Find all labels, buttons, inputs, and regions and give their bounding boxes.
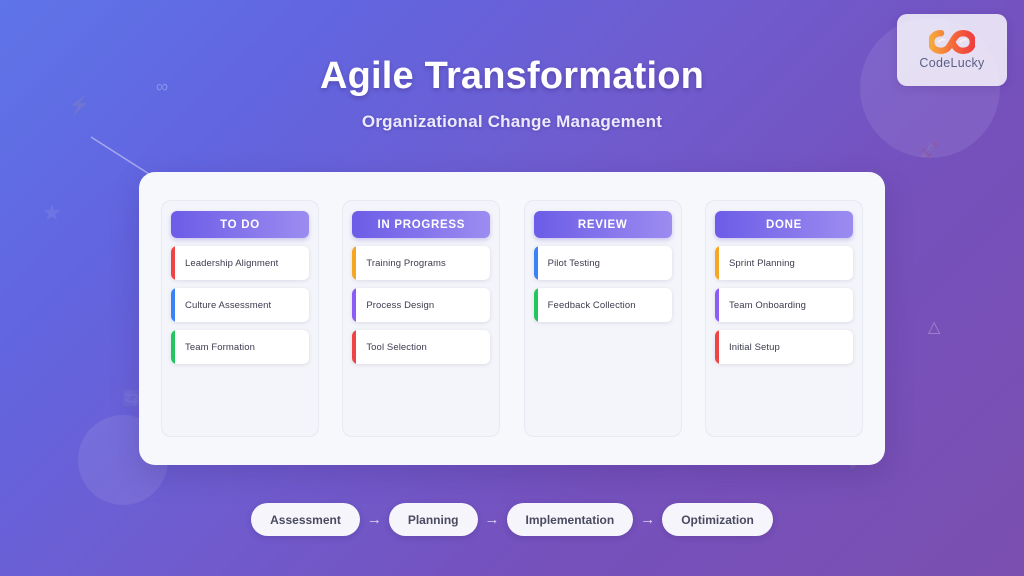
pipeline-step[interactable]: Optimization [662,503,773,536]
card-list: Training ProgramsProcess DesignTool Sele… [352,246,490,364]
column-header[interactable]: TO DO [171,211,309,238]
card-accent-bar [171,330,175,364]
card-title: Process Design [366,300,434,311]
pipeline-step[interactable]: Planning [389,503,478,536]
card-accent-bar [715,330,719,364]
card-accent-bar [715,288,719,322]
kanban-card[interactable]: Tool Selection [352,330,490,364]
kanban-card[interactable]: Culture Assessment [171,288,309,322]
card-accent-bar [171,246,175,280]
pipeline-arrow-icon: → [640,512,655,527]
kanban-board: TO DOLeadership AlignmentCulture Assessm… [139,172,885,465]
kanban-column: IN PROGRESSTraining ProgramsProcess Desi… [342,200,500,437]
card-title: Initial Setup [729,342,780,353]
card-accent-bar [352,288,356,322]
pipeline-arrow-icon: → [367,512,382,527]
kanban-column: REVIEWPilot TestingFeedback Collection [524,200,682,437]
card-accent-bar [352,246,356,280]
card-accent-bar [534,246,538,280]
kanban-card[interactable]: Pilot Testing [534,246,672,280]
pipeline-arrow-icon: → [485,512,500,527]
card-title: Culture Assessment [185,300,271,311]
kanban-card[interactable]: Sprint Planning [715,246,853,280]
card-title: Pilot Testing [548,258,600,269]
kanban-card[interactable]: Leadership Alignment [171,246,309,280]
card-title: Tool Selection [366,342,427,353]
infinity-leaf-icon [929,30,975,54]
card-title: Leadership Alignment [185,258,278,269]
triangle-icon: △ [928,320,940,336]
page-title: Agile Transformation [0,55,1024,98]
card-list: Pilot TestingFeedback Collection [534,246,672,322]
rocket-icon: 🚀 [920,143,939,158]
kanban-column: DONESprint PlanningTeam OnboardingInitia… [705,200,863,437]
card-title: Sprint Planning [729,258,795,269]
card-accent-bar [715,246,719,280]
pipeline-step[interactable]: Assessment [251,503,360,536]
kanban-card[interactable]: Training Programs [352,246,490,280]
card-list: Sprint PlanningTeam OnboardingInitial Se… [715,246,853,364]
kanban-card[interactable]: Initial Setup [715,330,853,364]
card-title: Training Programs [366,258,446,269]
pipeline-step[interactable]: Implementation [507,503,634,536]
page-subtitle: Organizational Change Management [0,112,1024,132]
process-pipeline: Assessment→Planning→Implementation→Optim… [0,503,1024,536]
column-header[interactable]: REVIEW [534,211,672,238]
card-accent-bar [534,288,538,322]
card-accent-bar [352,330,356,364]
kanban-card[interactable]: Feedback Collection [534,288,672,322]
slide-canvas: ∞ ⚡ ★ 🔄 △ 🚀 💡 CodeLucky Agile Transforma… [0,0,1024,576]
column-header[interactable]: IN PROGRESS [352,211,490,238]
card-title: Team Onboarding [729,300,806,311]
card-title: Team Formation [185,342,255,353]
column-header[interactable]: DONE [715,211,853,238]
card-accent-bar [171,288,175,322]
kanban-column: TO DOLeadership AlignmentCulture Assessm… [161,200,319,437]
star-icon: ★ [42,202,62,224]
kanban-card[interactable]: Process Design [352,288,490,322]
header: Agile Transformation Organizational Chan… [0,55,1024,132]
kanban-card[interactable]: Team Onboarding [715,288,853,322]
card-list: Leadership AlignmentCulture AssessmentTe… [171,246,309,364]
kanban-card[interactable]: Team Formation [171,330,309,364]
card-title: Feedback Collection [548,300,636,311]
